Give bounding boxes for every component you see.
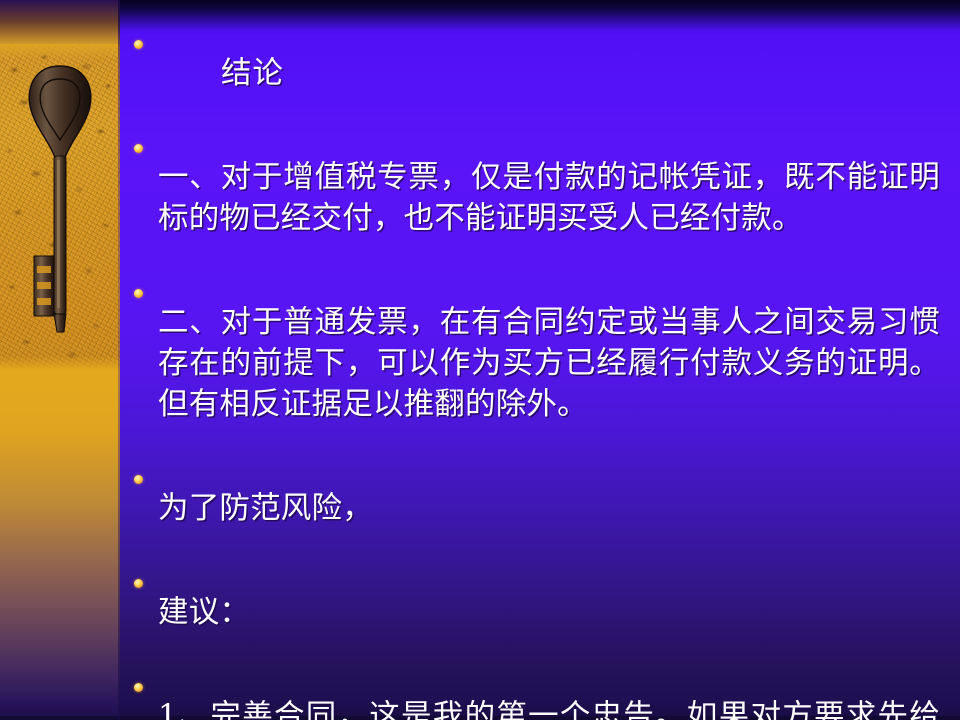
bullet-dot-icon: [134, 665, 158, 692]
bullet-dot-icon: [134, 457, 158, 484]
list-item: 为了防范风险，: [134, 457, 940, 559]
slide-body-text: 结论 一、对于增值税专票，仅是付款的记帐凭证，既不能证明标的物已经交付，也不能证…: [134, 22, 940, 720]
slide-sidebar-decoration: [0, 0, 120, 720]
photo-top-fade: [0, 44, 120, 60]
sidebar-divider: [118, 0, 120, 720]
bullet-dot-icon: [134, 561, 158, 588]
bullet-dot-icon: [134, 271, 158, 298]
bullet-text-suggestion-one: 1、完善合同，这是我的第一个忠告。如果对方要求先给票再付款，务必将其写入合同条款…: [158, 696, 940, 720]
list-item: 二、对于普通发票，在有合同约定或当事人之间交易习惯存在的前提下，可以作为买方已经…: [134, 271, 940, 455]
presentation-slide: 结论 一、对于增值税专票，仅是付款的记帐凭证，既不能证明标的物已经交付，也不能证…: [0, 0, 960, 720]
list-item: 建议：: [134, 561, 940, 663]
bullet-text-point-one: 一、对于增值税专票，仅是付款的记帐凭证，既不能证明标的物已经交付，也不能证明买受…: [158, 157, 940, 239]
bullet-text-suggestions-label: 建议：: [158, 592, 940, 633]
skeleton-key-icon: [24, 60, 96, 342]
list-item: 一、对于增值税专票，仅是付款的记帐凭证，既不能证明标的物已经交付，也不能证明买受…: [134, 126, 940, 269]
bullet-text-point-two: 二、对于普通发票，在有合同约定或当事人之间交易习惯存在的前提下，可以作为买方已经…: [158, 302, 940, 425]
bullet-dot-icon: [134, 126, 158, 153]
list-item: 1、完善合同，这是我的第一个忠告。如果对方要求先给票再付款，务必将其写入合同条款…: [134, 665, 940, 720]
photo-bottom-fade: [0, 356, 120, 370]
bullet-text-risk-prevention: 为了防范风险，: [158, 488, 940, 529]
bullet-dot-icon: [134, 22, 158, 49]
bullet-text-conclusion-heading: 结论: [158, 53, 940, 94]
list-item: 结论: [134, 22, 940, 124]
